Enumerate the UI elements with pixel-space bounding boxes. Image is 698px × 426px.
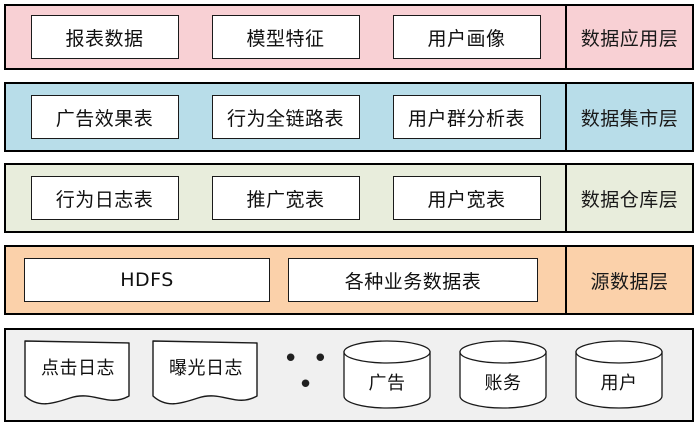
node-model-feature[interactable]: 模型特征 (212, 15, 360, 59)
layer-label-data-mart: 数据集市层 (565, 84, 692, 150)
layer-label-data-warehouse: 数据仓库层 (565, 165, 692, 231)
node-user-profile[interactable]: 用户画像 (393, 15, 541, 59)
document-icon (150, 338, 262, 412)
layered-architecture-diagram: 报表数据 模型特征 用户画像 数据应用层 广告效果表 行为全链路表 用户群分析表… (0, 0, 698, 426)
node-promotion-wide-table[interactable]: 推广宽表 (212, 176, 360, 220)
document-icon (22, 338, 134, 412)
layer-data-mart: 广告效果表 行为全链路表 用户群分析表 数据集市层 (4, 82, 694, 152)
node-user-group-analysis-table[interactable]: 用户群分析表 (393, 95, 541, 139)
layer-dw-body: 行为日志表 推广宽表 用户宽表 (6, 165, 565, 231)
node-behavior-fullchain-table[interactable]: 行为全链路表 (212, 95, 360, 139)
layer-label-source-data: 源数据层 (565, 247, 692, 313)
database-ad[interactable]: 广告 (340, 340, 434, 410)
ellipsis-more-sources: • • • (278, 346, 336, 404)
document-impression-log[interactable]: 曝光日志 (150, 338, 262, 412)
layer-data-application: 报表数据 模型特征 用户画像 数据应用层 (4, 4, 694, 70)
node-ad-effect-table[interactable]: 广告效果表 (31, 95, 179, 139)
node-user-wide-table[interactable]: 用户宽表 (393, 176, 541, 220)
layer-raw-body: 点击日志 曝光日志 • • • 广告 (6, 330, 696, 420)
database-cylinder-icon (572, 340, 666, 410)
node-behavior-log-table[interactable]: 行为日志表 (31, 176, 179, 220)
layer-src-body: HDFS 各种业务数据表 (6, 247, 565, 313)
layer-mart-body: 广告效果表 行为全链路表 用户群分析表 (6, 84, 565, 150)
layer-raw-sources: 点击日志 曝光日志 • • • 广告 (4, 328, 694, 422)
node-hdfs[interactable]: HDFS (24, 258, 270, 302)
database-finance[interactable]: 账务 (456, 340, 550, 410)
node-business-data-tables[interactable]: 各种业务数据表 (288, 258, 538, 302)
node-report-data[interactable]: 报表数据 (31, 15, 179, 59)
document-click-log[interactable]: 点击日志 (22, 338, 134, 412)
layer-app-body: 报表数据 模型特征 用户画像 (6, 6, 565, 68)
database-user[interactable]: 用户 (572, 340, 666, 410)
layer-data-warehouse: 行为日志表 推广宽表 用户宽表 数据仓库层 (4, 163, 694, 233)
database-cylinder-icon (456, 340, 550, 410)
layer-label-data-application: 数据应用层 (565, 6, 692, 68)
database-cylinder-icon (340, 340, 434, 410)
layer-source-data: HDFS 各种业务数据表 源数据层 (4, 245, 694, 315)
